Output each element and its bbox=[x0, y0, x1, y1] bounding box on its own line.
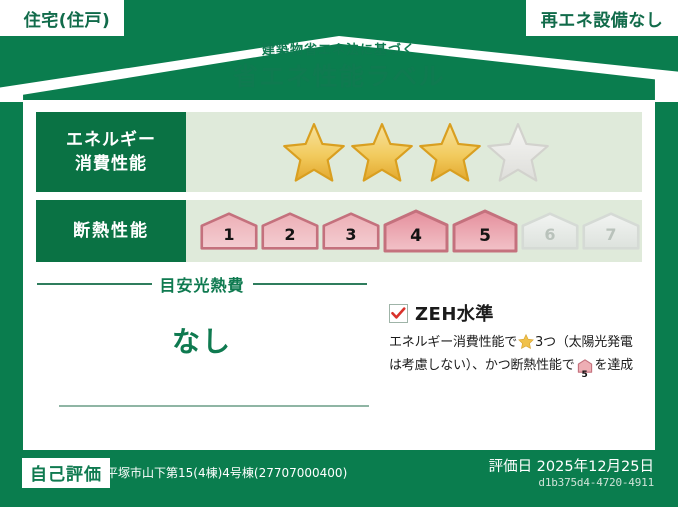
insulation-level-number: 1 bbox=[200, 225, 258, 244]
star-empty-icon bbox=[487, 122, 549, 182]
page-title: 建築物省エネ法に基づく 省エネ性能ラベル bbox=[0, 42, 678, 93]
star-filled-icon bbox=[351, 122, 413, 182]
zeh-checkbox[interactable] bbox=[389, 304, 408, 323]
inline-star-icon bbox=[518, 338, 534, 353]
insulation-level-3: 3 bbox=[322, 212, 380, 250]
zeh-block: ZEH水準 エネルギー消費性能で3つ（太陽光発電は考慮しない）、かつ断熱性能で5… bbox=[389, 300, 641, 380]
insulation-performance-label: 断熱性能 bbox=[36, 200, 186, 262]
star-filled-icon bbox=[283, 122, 345, 182]
lower-section: 目安光熱費 なし ZEH水準 エネルギー消費性能で3つ（太陽光発電は考慮しない）… bbox=[23, 272, 655, 450]
energy-performance-row: エネルギー 消費性能 bbox=[36, 112, 642, 192]
self-evaluation-badge: 自己評価 bbox=[22, 458, 110, 488]
tab-renewable-energy: 再エネ設備なし bbox=[526, 0, 678, 36]
insulation-level-number: 7 bbox=[582, 225, 640, 244]
tab-renewable-energy-label: 再エネ設備なし bbox=[541, 6, 664, 31]
insulation-performance-row: 断熱性能 1234567 bbox=[36, 200, 642, 262]
utility-cost-rule-left bbox=[37, 283, 152, 285]
inline-house-number: 5 bbox=[577, 371, 593, 380]
insulation-level-1: 1 bbox=[200, 212, 258, 250]
zeh-desc-part2: は考慮しない）、かつ断熱性能で bbox=[389, 358, 575, 373]
check-icon bbox=[391, 307, 406, 320]
insulation-level-7: 7 bbox=[582, 212, 640, 250]
insulation-level-number: 3 bbox=[322, 225, 380, 244]
insulation-level-6: 6 bbox=[521, 212, 579, 250]
insulation-level-number: 5 bbox=[452, 226, 518, 246]
utility-cost-value: なし bbox=[37, 320, 367, 360]
insulation-level-number: 4 bbox=[383, 226, 449, 246]
zeh-title: ZEH水準 bbox=[415, 300, 494, 326]
energy-performance-label: 住宅(住戸) 再エネ設備なし 建築物省エネ法に基づく 省エネ性能ラベル エネルギ… bbox=[0, 0, 678, 507]
utility-cost-header: 目安光熱費 bbox=[37, 272, 367, 296]
zeh-desc-part1: エネルギー消費性能で bbox=[389, 335, 517, 350]
zeh-title-row: ZEH水準 bbox=[389, 300, 641, 326]
page-subtitle: 建築物省エネ法に基づく bbox=[0, 42, 678, 59]
zeh-desc-stars: 3つ（太陽光発電 bbox=[535, 335, 633, 350]
evaluation-date: 評価日 2025年12月25日 bbox=[489, 455, 654, 476]
energy-performance-label-line1: エネルギー bbox=[66, 128, 156, 152]
utility-cost-rule-right bbox=[253, 283, 368, 285]
property-address: 平塚市山下第15(4棟)4号棟(27707000400) bbox=[106, 464, 347, 481]
inline-house-icon: 5 bbox=[577, 359, 593, 380]
insulation-level-4: 4 bbox=[383, 209, 449, 253]
insulation-level-number: 6 bbox=[521, 225, 579, 244]
zeh-description: エネルギー消費性能で3つ（太陽光発電は考慮しない）、かつ断熱性能で5を達成 bbox=[389, 333, 641, 380]
energy-performance-label-line2: 消費性能 bbox=[75, 152, 147, 176]
label-body-panel: エネルギー 消費性能 断熱性能 1234567 目安光熱費 なし bbox=[23, 100, 655, 450]
star-filled-icon bbox=[419, 122, 481, 182]
tab-building-type-label: 住宅(住戸) bbox=[24, 6, 111, 31]
energy-performance-label: エネルギー 消費性能 bbox=[36, 112, 186, 192]
label-footer: 自己評価 平塚市山下第15(4棟)4号棟(27707000400) 評価日 20… bbox=[0, 450, 678, 507]
zeh-desc-part3: を達成 bbox=[595, 358, 633, 373]
insulation-level-scale: 1234567 bbox=[186, 200, 642, 262]
utility-cost-title: 目安光熱費 bbox=[160, 272, 245, 296]
insulation-level-number: 2 bbox=[261, 225, 319, 244]
insulation-level-5: 5 bbox=[452, 209, 518, 253]
insulation-performance-label-text: 断熱性能 bbox=[73, 219, 149, 243]
page-title-main: 省エネ性能ラベル bbox=[0, 61, 678, 93]
utility-cost-rule-bottom bbox=[59, 405, 369, 407]
evaluation-id: d1b375d4-4720-4911 bbox=[538, 476, 654, 489]
insulation-level-2: 2 bbox=[261, 212, 319, 250]
tab-building-type: 住宅(住戸) bbox=[0, 0, 124, 36]
star-rating bbox=[186, 112, 642, 192]
